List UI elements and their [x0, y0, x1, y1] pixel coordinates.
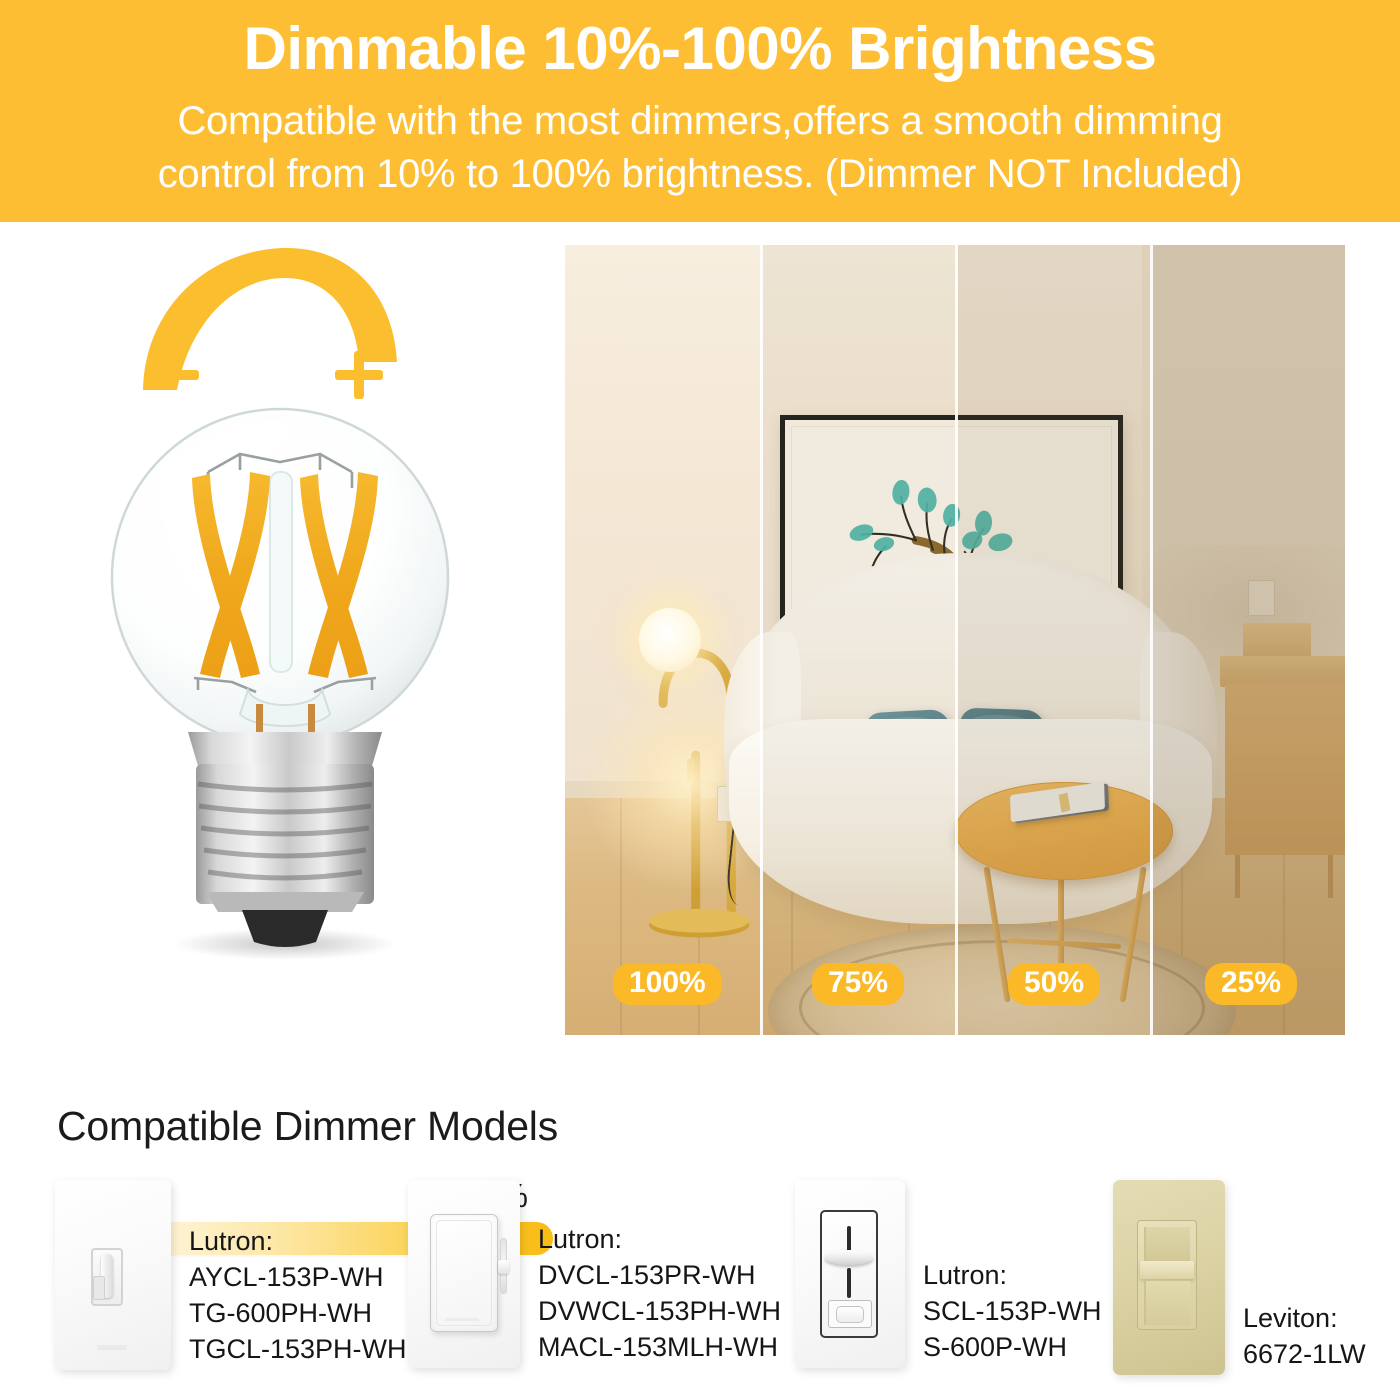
- page-title: Dimmable 10%-100% Brightness: [243, 14, 1156, 85]
- panel-divider-2: [955, 245, 958, 1035]
- panel-divider-3: [1150, 245, 1153, 1035]
- toggle-slider: [93, 1276, 105, 1300]
- sideboard: [1220, 656, 1345, 893]
- dimmer-model-3: Lutron: SCL-153P-WH S-600P-WH: [795, 1180, 1102, 1368]
- base-tip: [242, 910, 328, 947]
- brightness-pill-25: 25%: [1205, 963, 1297, 1005]
- dimmer-model-2-text: Lutron: DVCL-153PR-WH DVWCL-153PH-WH MAC…: [538, 1222, 781, 1368]
- dimmer-arc-icon: [135, 242, 425, 402]
- room-scene: 100% 75% 50% 25%: [565, 245, 1345, 1035]
- room-brightness-comparison: 100% 75% 50% 25%: [565, 245, 1345, 1035]
- dimmer-model-3-code-0: SCL-153P-WH: [923, 1294, 1102, 1330]
- slider-track-lower: [847, 1268, 851, 1298]
- paddle-rocker: [430, 1214, 498, 1332]
- bulb-panel: 10% 100%: [0, 222, 560, 1072]
- panel-divider-1: [760, 245, 763, 1035]
- screw-base: [196, 764, 374, 912]
- dimmer-model-2-brand: Lutron:: [538, 1222, 781, 1258]
- banner-subtitle: Compatible with the most dimmers,offers …: [20, 95, 1380, 201]
- dimmer-model-1: Lutron: AYCL-153P-WH TG-600PH-WH TGCL-15…: [55, 1180, 407, 1370]
- rocker-switch: [836, 1306, 864, 1323]
- brightness-pill-50: 50%: [1008, 963, 1100, 1005]
- ivory-track-upper: [1144, 1227, 1190, 1261]
- banner-subtitle-line2: control from 10% to 100% brightness. (Di…: [20, 148, 1380, 201]
- ivory-slider-knob: [1140, 1261, 1194, 1279]
- dimmer-model-1-code-2: TGCL-153PH-WH: [189, 1332, 407, 1368]
- dimmer-model-4-text: Leviton: 6672-1LW: [1243, 1301, 1366, 1375]
- infographic-page: Dimmable 10%-100% Brightness Compatible …: [0, 0, 1400, 1400]
- dimmer-models-row: Lutron: AYCL-153P-WH TG-600PH-WH TGCL-15…: [0, 1180, 1400, 1395]
- dimmer-model-4-brand: Leviton:: [1243, 1301, 1366, 1337]
- slide-bezel: [820, 1210, 878, 1338]
- brand-mark: [97, 1345, 127, 1350]
- dimmer-model-3-text: Lutron: SCL-153P-WH S-600P-WH: [923, 1258, 1102, 1368]
- dimmer-model-1-code-1: TG-600PH-WH: [189, 1296, 407, 1332]
- minus-icon: [155, 370, 199, 380]
- sideboard-top: [1220, 656, 1345, 687]
- section-title-dimmer-models: Compatible Dimmer Models: [57, 1103, 558, 1150]
- rocker-frame: [828, 1300, 872, 1328]
- dimmer-model-1-code-0: AYCL-153P-WH: [189, 1260, 407, 1296]
- slide-rocker-dimmer-image: [795, 1180, 905, 1368]
- led-bulb-image: [80, 392, 500, 962]
- magazine: [1014, 783, 1109, 823]
- ivory-slide-dimmer-image: [1113, 1180, 1225, 1375]
- dimmer-model-2-code-0: DVCL-153PR-WH: [538, 1258, 781, 1294]
- dimmer-model-3-code-1: S-600P-WH: [923, 1330, 1102, 1366]
- dimmer-model-2: Lutron: DVCL-153PR-WH DVWCL-153PH-WH MAC…: [408, 1180, 781, 1368]
- dimmer-model-2-code-2: MACL-153MLH-WH: [538, 1330, 781, 1366]
- lamp-globe-shade: [639, 608, 701, 671]
- header-banner: Dimmable 10%-100% Brightness Compatible …: [0, 0, 1400, 222]
- dimmer-model-1-text: Lutron: AYCL-153P-WH TG-600PH-WH TGCL-15…: [189, 1224, 407, 1370]
- table-top: [955, 782, 1173, 879]
- banner-subtitle-line1: Compatible with the most dimmers,offers …: [20, 95, 1380, 148]
- bulb-stem: [270, 472, 292, 672]
- slider-knob: [825, 1250, 873, 1265]
- paddle-dimmer-image: [408, 1180, 520, 1368]
- sideboard-body: [1225, 684, 1345, 855]
- sideboard-outlet: [1248, 580, 1275, 616]
- dimmer-model-2-code-1: DVWCL-153PH-WH: [538, 1294, 781, 1330]
- dimmer-model-3-brand: Lutron:: [923, 1258, 1102, 1294]
- brightness-pill-75: 75%: [812, 963, 904, 1005]
- dimmer-model-4-code-0: 6672-1LW: [1243, 1337, 1366, 1373]
- dimmer-model-4: Leviton: 6672-1LW: [1113, 1180, 1366, 1375]
- ivory-track-lower: [1144, 1281, 1190, 1325]
- toggle-dimmer-image: [55, 1180, 171, 1370]
- magazine-strip: [1059, 793, 1070, 813]
- dimmer-model-1-brand: Lutron:: [189, 1224, 407, 1260]
- ivory-bezel: [1137, 1220, 1197, 1330]
- paddle-slider-knob: [498, 1260, 509, 1274]
- base-collar: [188, 732, 382, 766]
- brightness-pill-100: 100%: [613, 963, 722, 1005]
